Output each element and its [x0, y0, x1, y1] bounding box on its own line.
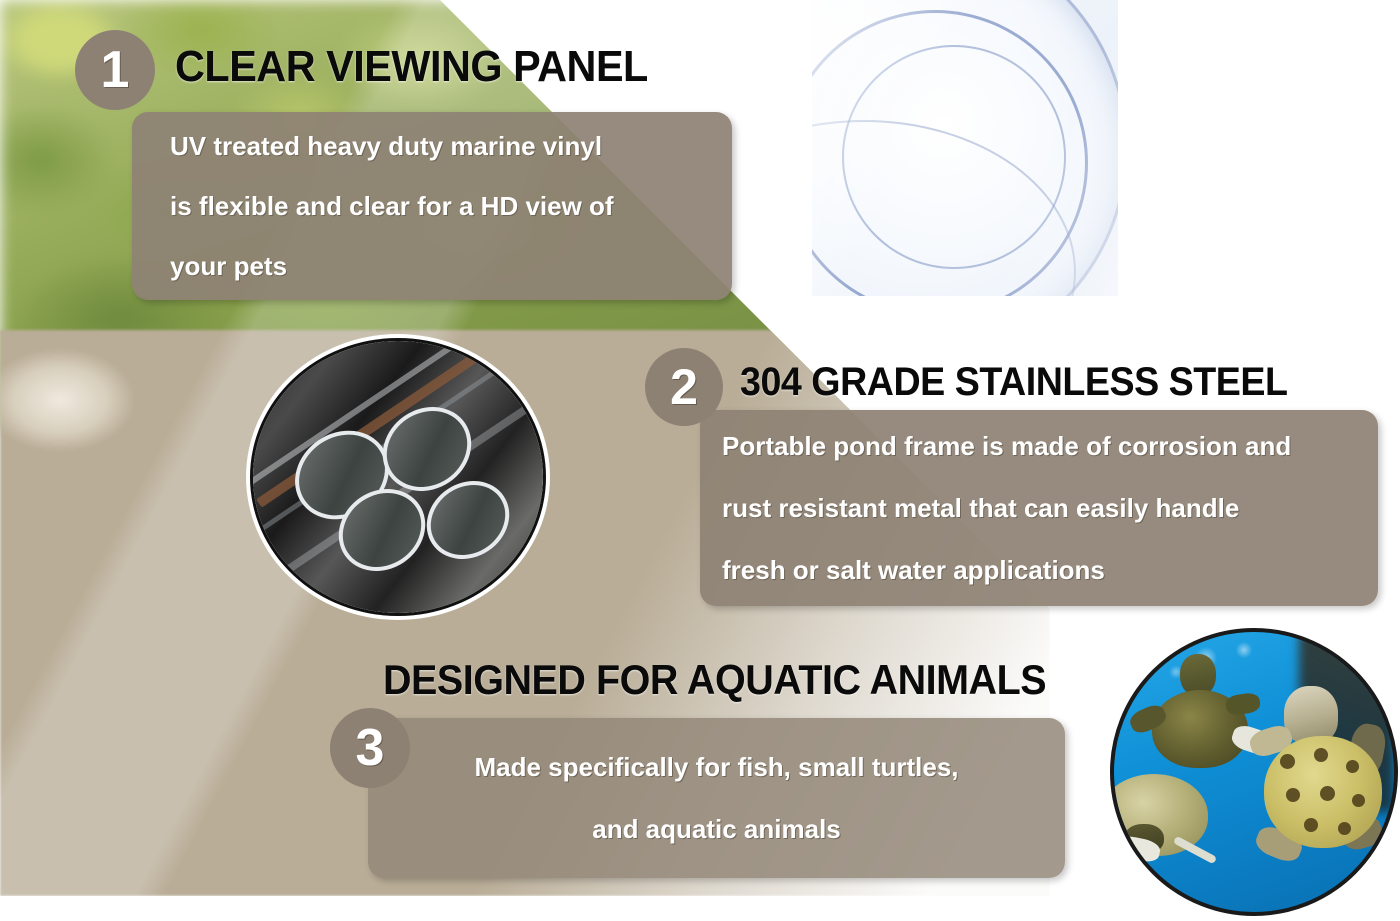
feature-body-line: your pets: [170, 236, 694, 296]
feature-body-line: rust resistant metal that can easily han…: [722, 477, 1356, 539]
shell-spot: [1314, 748, 1328, 762]
shell-spot: [1352, 794, 1365, 807]
shell-spot: [1280, 754, 1295, 769]
turtle-limb: [1225, 692, 1261, 717]
turtles-badge: [1110, 628, 1398, 916]
badge-number: 3: [356, 718, 385, 778]
feature-body-line: is flexible and clear for a HD view of: [170, 176, 694, 236]
shell-spot: [1320, 786, 1335, 801]
steel-tubes-badge: [250, 338, 546, 616]
feature-headline-2: 304 GRADE STAINLESS STEEL: [740, 360, 1288, 405]
infographic-canvas: 1 CLEAR VIEWING PANEL UV treated heavy d…: [0, 0, 1400, 921]
feature-number-badge-3: 3: [330, 708, 410, 788]
shell-spot: [1304, 818, 1318, 832]
badge-number: 2: [670, 358, 698, 416]
feature-textbox-3: Made specifically for fish, small turtle…: [368, 718, 1065, 878]
feature-number-badge-1: 1: [75, 30, 155, 110]
feature-body-line: Portable pond frame is made of corrosion…: [722, 415, 1356, 477]
turtle-shell: [1264, 736, 1382, 848]
vinyl-sheen: [812, 0, 1118, 296]
badge-number: 1: [101, 40, 130, 100]
clear-vinyl-photo: [812, 0, 1118, 296]
feature-body-line: fresh or salt water applications: [722, 539, 1356, 601]
shell-spot: [1286, 788, 1300, 802]
feature-textbox-1: UV treated heavy duty marine vinyl is fl…: [132, 112, 732, 300]
shell-spot: [1338, 822, 1351, 835]
feature-textbox-2: Portable pond frame is made of corrosion…: [700, 410, 1378, 606]
feature-body-line: UV treated heavy duty marine vinyl: [170, 116, 694, 176]
feature-headline-3: DESIGNED FOR AQUATIC ANIMALS: [383, 656, 1046, 704]
shell-spot: [1346, 760, 1359, 773]
feature-number-badge-2: 2: [645, 348, 723, 426]
steel-tubes-photo: [253, 341, 543, 613]
feature-headline-1: CLEAR VIEWING PANEL: [175, 42, 648, 92]
feature-body-line: Made specifically for fish, small turtle…: [390, 736, 1043, 798]
feature-body-line: and aquatic animals: [390, 798, 1043, 860]
